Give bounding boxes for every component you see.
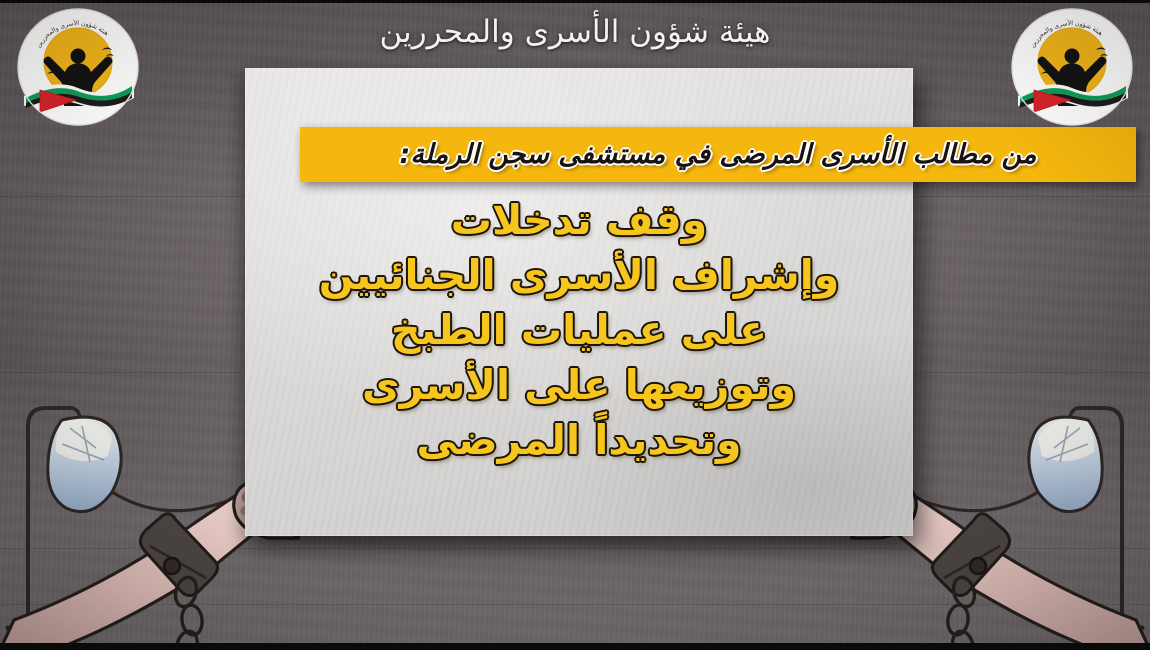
top-edge-bar — [0, 0, 1150, 3]
demands-list: وقف تدخلات وإشراف الأسرى الجنائيين على ع… — [255, 200, 903, 461]
headline-band-text: من مطالب الأسرى المرضى في مستشفى سجن الر… — [400, 139, 1037, 170]
demand-line: وتوزيعها على الأسرى — [255, 365, 903, 406]
demand-line: وقف تدخلات — [255, 200, 903, 241]
headline-band: من مطالب الأسرى المرضى في مستشفى سجن الر… — [300, 127, 1136, 182]
commission-of-detainees-affairs-logo-icon: هيئة شؤون الأسرى والمحررين — [14, 6, 142, 128]
demand-line: وتحديداً المرضى — [255, 420, 903, 461]
demand-line: على عمليات الطبخ — [255, 310, 903, 351]
bottom-edge-bar — [0, 643, 1150, 650]
commission-of-detainees-affairs-logo-icon: هيئة شؤون الأسرى والمحررين — [1008, 6, 1136, 128]
poster-canvas: من مطالب الأسرى المرضى في مستشفى سجن الر… — [0, 0, 1150, 650]
demand-line: وإشراف الأسرى الجنائيين — [255, 255, 903, 296]
